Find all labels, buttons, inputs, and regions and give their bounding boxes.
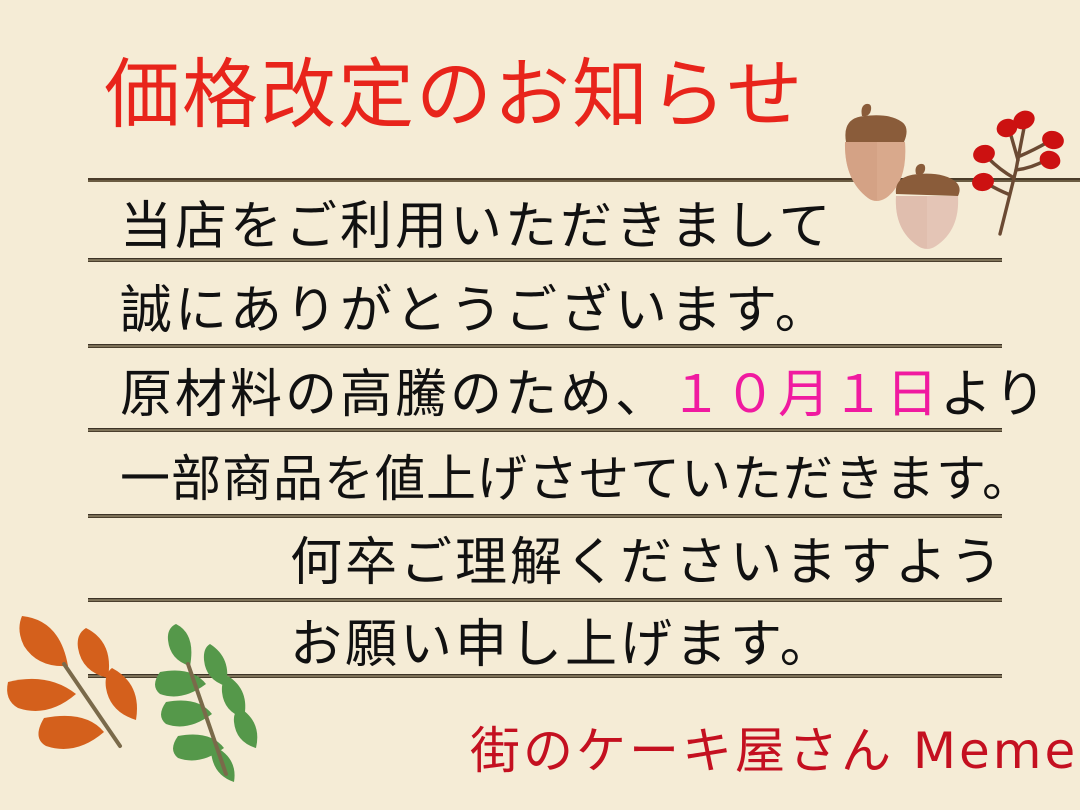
body-line-3: 原材料の高騰のため、１０月１日より (120, 364, 1049, 426)
body-line-6: お願い申し上げます。 (290, 614, 835, 676)
divider-rule-1 (88, 258, 1002, 262)
branch-stems (988, 128, 1048, 234)
shop-signature: 街のケーキ屋さん Meme (470, 722, 1078, 780)
acorn-bottom-icon (896, 164, 960, 249)
body-line-4: 一部商品を値上げさせていただきます。 (120, 448, 1033, 510)
body-line-5: 何卒ご理解くださいますよう (290, 532, 1005, 594)
body-line-1: 当店をご利用いただきまして (120, 196, 833, 258)
green-leaf-sprig (155, 624, 257, 782)
divider-rule-2 (88, 344, 1002, 348)
body-line-3-prefix: 原材料の高騰のため、 (120, 365, 670, 425)
berry-branch-decoration (958, 98, 1080, 238)
leaf-sprig-decoration (0, 598, 300, 810)
page-title: 価格改定のお知らせ (104, 52, 804, 138)
divider-rule-4 (88, 514, 1002, 518)
body-line-3-suffix: より (940, 365, 1049, 425)
notice-poster: 価格改定のお知らせ 当店をご利用いただきまして 誠にありがとうございます。 原材… (0, 0, 1080, 810)
orange-leaf-sprig (7, 616, 137, 749)
divider-rule-3 (88, 428, 1002, 432)
body-line-2: 誠にありがとうございます。 (120, 280, 830, 342)
effective-date-highlight: １０月１日 (670, 365, 940, 425)
